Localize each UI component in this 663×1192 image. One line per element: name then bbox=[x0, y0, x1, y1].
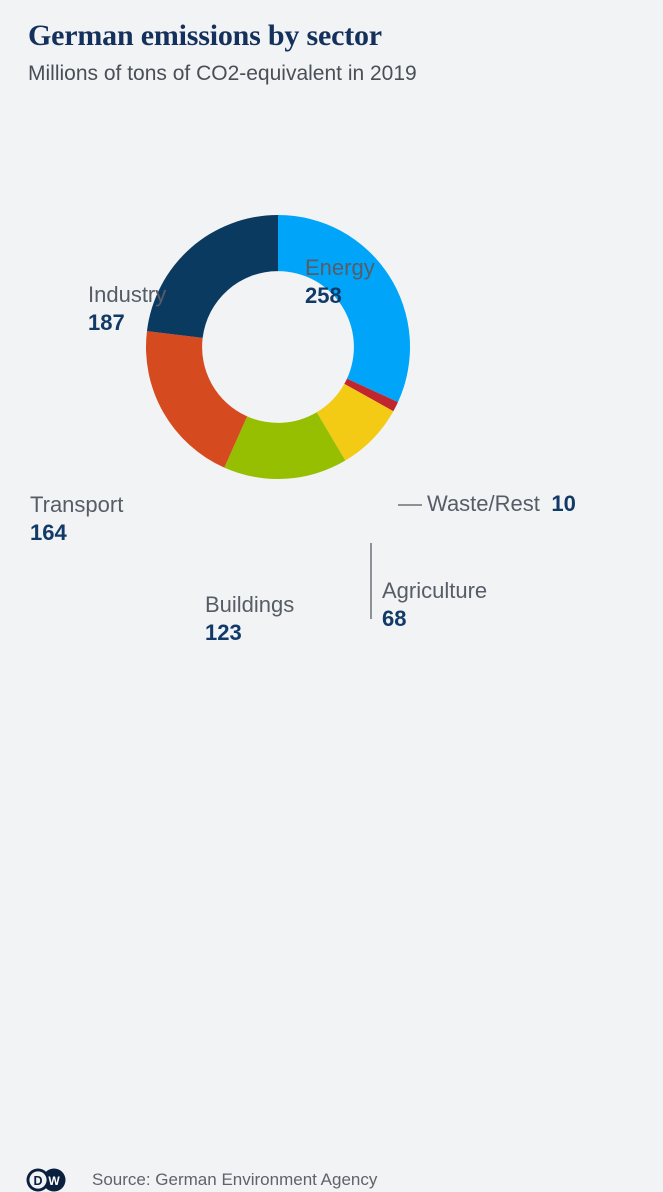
dw-logo-letter-d: D bbox=[33, 1174, 42, 1188]
slice-label-industry-value: 187 bbox=[88, 310, 166, 336]
footer: D W Source: German Environment Agency bbox=[0, 578, 663, 635]
chart-area: Energy 258 Industry 187 Transport 164 Bu… bbox=[0, 100, 663, 570]
slice-label-industry: Industry 187 bbox=[88, 282, 166, 335]
slice-label-waste: Waste/Rest 10 bbox=[427, 491, 576, 517]
slice-label-transport: Transport 164 bbox=[30, 492, 123, 545]
source-text: Source: German Environment Agency bbox=[92, 1170, 377, 1190]
slice-label-waste-value: 10 bbox=[551, 491, 575, 516]
slice-label-transport-value: 164 bbox=[30, 520, 123, 546]
leader-line-waste bbox=[398, 504, 422, 506]
slice-label-industry-name: Industry bbox=[88, 282, 166, 308]
slice-label-energy: Energy 258 bbox=[305, 255, 375, 308]
slice-label-energy-name: Energy bbox=[305, 255, 375, 281]
slice-label-waste-name: Waste/Rest bbox=[427, 491, 540, 516]
infographic-page: German emissions by sector Millions of t… bbox=[0, 0, 663, 635]
page-subtitle: Millions of tons of CO2-equivalent in 20… bbox=[28, 60, 648, 87]
donut-slice-energy[interactable] bbox=[278, 215, 410, 402]
page-title: German emissions by sector bbox=[28, 18, 648, 54]
slice-label-transport-name: Transport bbox=[30, 492, 123, 518]
slice-label-energy-value: 258 bbox=[305, 283, 375, 309]
donut-slice-transport[interactable] bbox=[146, 331, 247, 467]
header: German emissions by sector Millions of t… bbox=[28, 18, 648, 87]
dw-logo-letter-w: W bbox=[48, 1174, 60, 1188]
dw-logo-icon: D W bbox=[24, 1168, 68, 1192]
donut-slice-industry[interactable] bbox=[147, 215, 278, 338]
